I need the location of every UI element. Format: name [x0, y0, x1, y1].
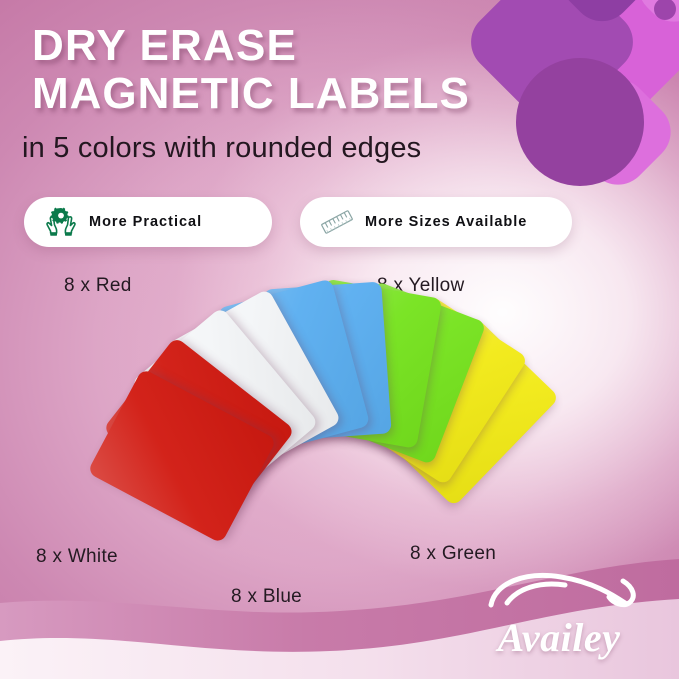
- brand-swash-icon: [473, 569, 649, 613]
- ruler-icon: [320, 206, 354, 238]
- circle-purple-large: [516, 58, 644, 186]
- badge-more-practical[interactable]: More Practical: [24, 197, 272, 247]
- badge-more-sizes-available[interactable]: More Sizes Available: [300, 197, 572, 247]
- headline-line-2: MAGNETIC LABELS: [32, 70, 502, 118]
- product-card-fan: [0, 285, 679, 585]
- badge-label: More Practical: [89, 214, 202, 230]
- brand-logo: Availey: [459, 569, 659, 661]
- subheadline: in 5 colors with rounded edges: [22, 131, 582, 165]
- badge-label: More Sizes Available: [365, 214, 527, 230]
- brand-name: Availey: [459, 614, 659, 661]
- caption-red: 8 x Red: [64, 275, 132, 297]
- hands-holding-gear-icon: [44, 206, 78, 238]
- poster-canvas: DRY ERASE MAGNETIC LABELS in 5 colors wi…: [0, 0, 679, 679]
- headline-line-1: DRY ERASE: [32, 21, 297, 70]
- page-title: DRY ERASE MAGNETIC LABELS: [32, 22, 502, 118]
